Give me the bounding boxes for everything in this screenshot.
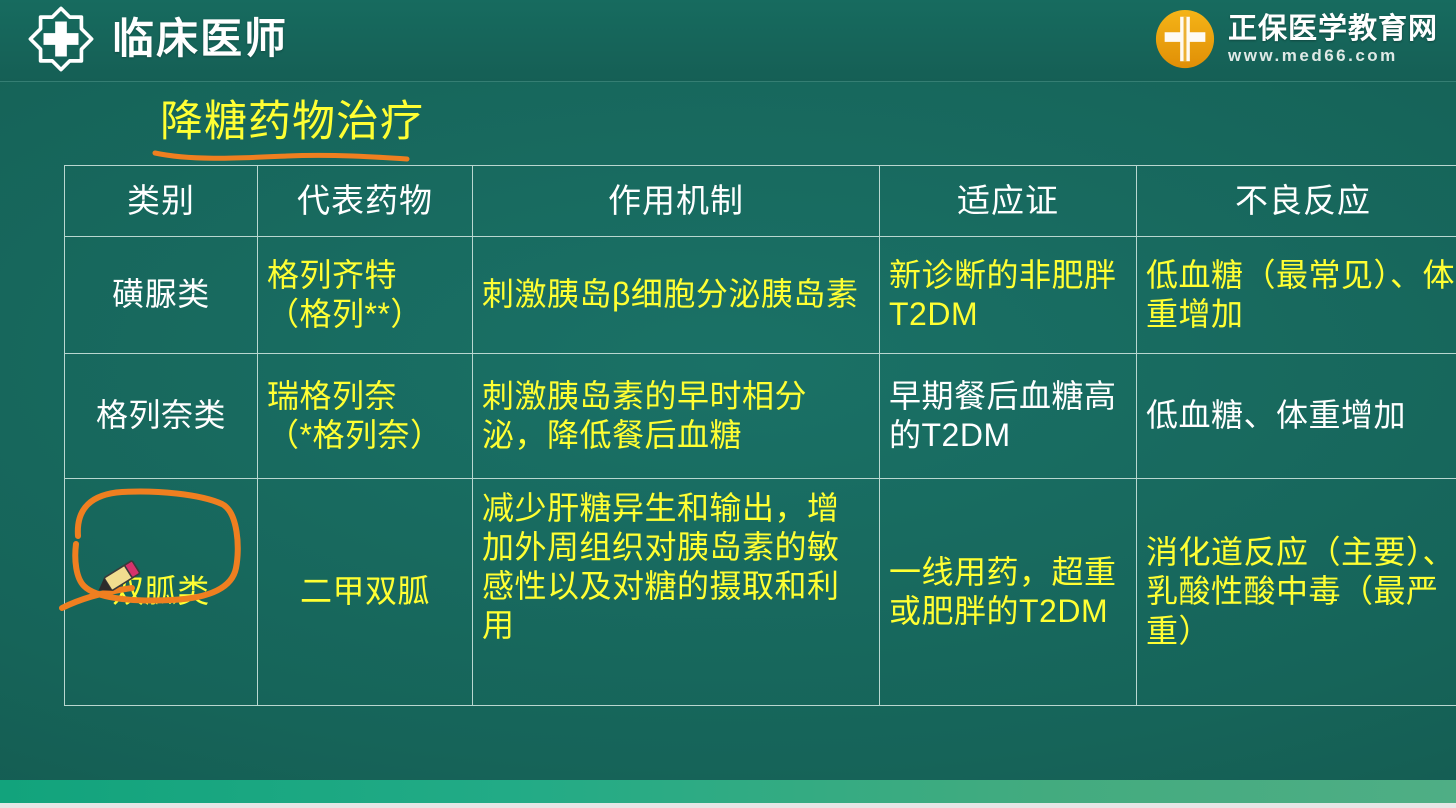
cell-category-1: 磺脲类 (65, 237, 258, 354)
med66-text-group: 正保医学教育网 www.med66.com (1228, 15, 1438, 64)
column-header-drug: 代表药物 (258, 166, 473, 237)
cell-category-3: 双胍类 (65, 479, 258, 706)
column-header-category: 类别 (65, 166, 258, 237)
brand-title: 临床医师 (112, 18, 288, 60)
medical-cross-flower-icon (24, 4, 98, 74)
med66-brand-name: 正保医学教育网 (1228, 15, 1438, 44)
brand-left-group: 临床医师 (24, 4, 288, 74)
cell-adverse-3: 消化道反应（主要）、乳酸性酸中毒（最严重） (1137, 479, 1456, 706)
cell-drug-3: 二甲双胍 (258, 479, 473, 706)
cell-drug-1: 格列齐特 （格列**） (258, 237, 473, 354)
table-header-row: 类别 代表药物 作用机制 适应证 不良反应 (65, 166, 1456, 237)
slide-title-group: 降糖药物治疗 (160, 100, 580, 145)
table-row: 双胍类 二甲双胍 减少肝糖异生和输出，增加外周组织对胰岛素的敏感性以及对糖的摄取… (65, 479, 1456, 706)
brand-right-group: 正保医学教育网 www.med66.com (1154, 8, 1438, 70)
cell-adverse-1: 低血糖（最常见）、体重增加 (1137, 237, 1456, 354)
table-row: 磺脲类 格列齐特 （格列**） 刺激胰岛β细胞分泌胰岛素 新诊断的非肥胖T2DM… (65, 237, 1456, 354)
cell-category-2: 格列奈类 (65, 354, 258, 479)
column-header-mechanism: 作用机制 (473, 166, 880, 237)
cell-mechanism-3: 减少肝糖异生和输出，增加外周组织对胰岛素的敏感性以及对糖的摄取和利用 (473, 479, 880, 706)
med66-cross-badge-icon (1154, 8, 1216, 70)
bottom-progress-bar[interactable] (0, 780, 1456, 803)
cell-indication-2: 早期餐后血糖高的T2DM (880, 354, 1137, 479)
cell-mechanism-2: 刺激胰岛素的早时相分泌，降低餐后血糖 (473, 354, 880, 479)
column-header-indication: 适应证 (880, 166, 1137, 237)
cell-indication-1: 新诊断的非肥胖T2DM (880, 237, 1137, 354)
title-underline-annotation (152, 144, 412, 166)
column-header-adverse: 不良反应 (1137, 166, 1456, 237)
bottom-edge-strip (0, 803, 1456, 808)
med66-brand-url: www.med66.com (1228, 47, 1438, 64)
cell-mechanism-1: 刺激胰岛β细胞分泌胰岛素 (473, 237, 880, 354)
cell-indication-3: 一线用药，超重或肥胖的T2DM (880, 479, 1137, 706)
slide-title: 降糖药物治疗 (160, 100, 580, 145)
slide-header-bar: 临床医师 正保医学教育网 www.med66.com (0, 0, 1456, 82)
drug-therapy-table: 类别 代表药物 作用机制 适应证 不良反应 磺脲类 格列齐特 （格列**） 刺激… (64, 165, 1456, 706)
table-row: 格列奈类 瑞格列奈 （*格列奈） 刺激胰岛素的早时相分泌，降低餐后血糖 早期餐后… (65, 354, 1456, 479)
cell-drug-2: 瑞格列奈 （*格列奈） (258, 354, 473, 479)
cell-adverse-2: 低血糖、体重增加 (1137, 354, 1456, 479)
slide-canvas: 临床医师 正保医学教育网 www.med66.com 降糖药物治疗 (0, 0, 1456, 808)
